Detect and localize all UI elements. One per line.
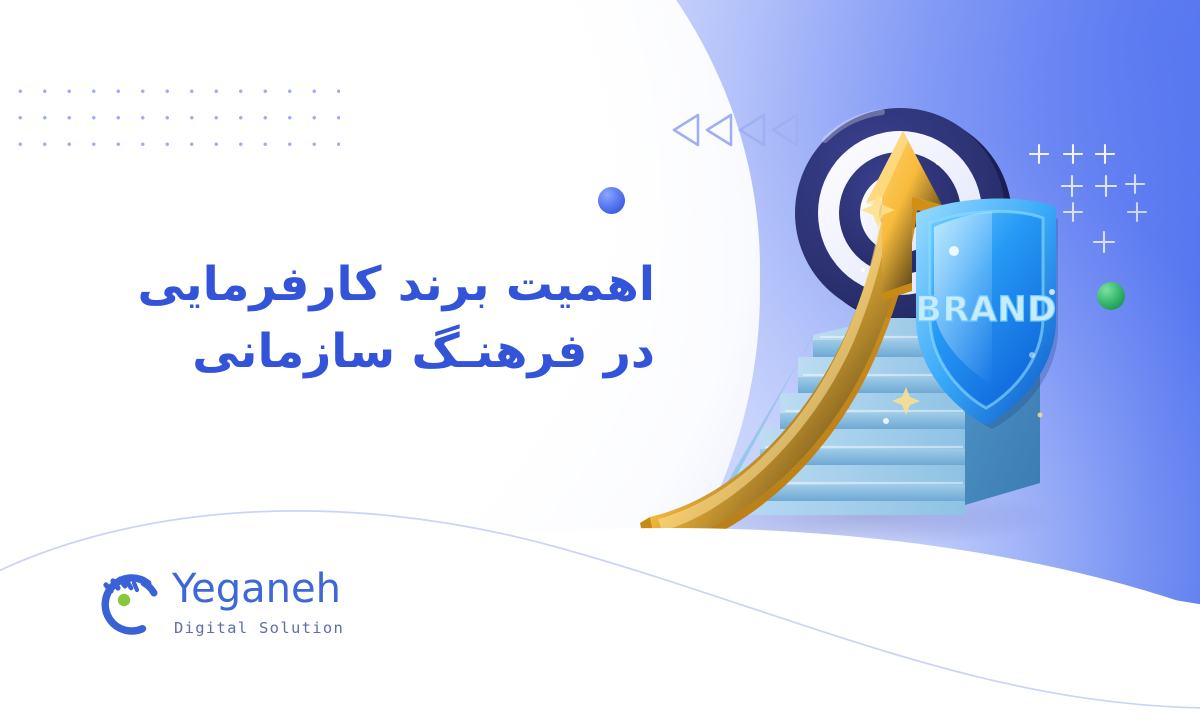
plus-sparkle-icon [1096, 176, 1116, 196]
plus-sparkle-icon [1062, 176, 1082, 196]
green-sphere-icon [1097, 282, 1125, 310]
logo-name: Yeganeh [172, 569, 341, 609]
logo-green-dot-icon [118, 594, 130, 606]
plus-sparkle-icon [1128, 203, 1146, 221]
plus-sparkle-icon [1096, 145, 1114, 163]
dot-grid-pattern-icon [8, 78, 340, 164]
banner-canvas: BRAND اهمیت برند کارفر [0, 0, 1200, 720]
plus-sparkle-icon [1126, 175, 1144, 193]
plus-sparkle-icon [1064, 145, 1082, 163]
circular-arc-logo-icon [96, 567, 170, 641]
plus-sparkle-icon [1094, 232, 1114, 252]
plus-sparkle-icon [1030, 145, 1048, 163]
logo-tagline: Digital Solution [174, 621, 344, 637]
plus-sparkle-icon [1064, 203, 1082, 221]
logo[interactable]: Yeganeh Digital Solution [96, 565, 356, 657]
dot-sparkle-icon [1049, 289, 1055, 295]
page-title: اهمیت برند کارفرمایی در فرهنـگ سازمانی [75, 252, 655, 385]
